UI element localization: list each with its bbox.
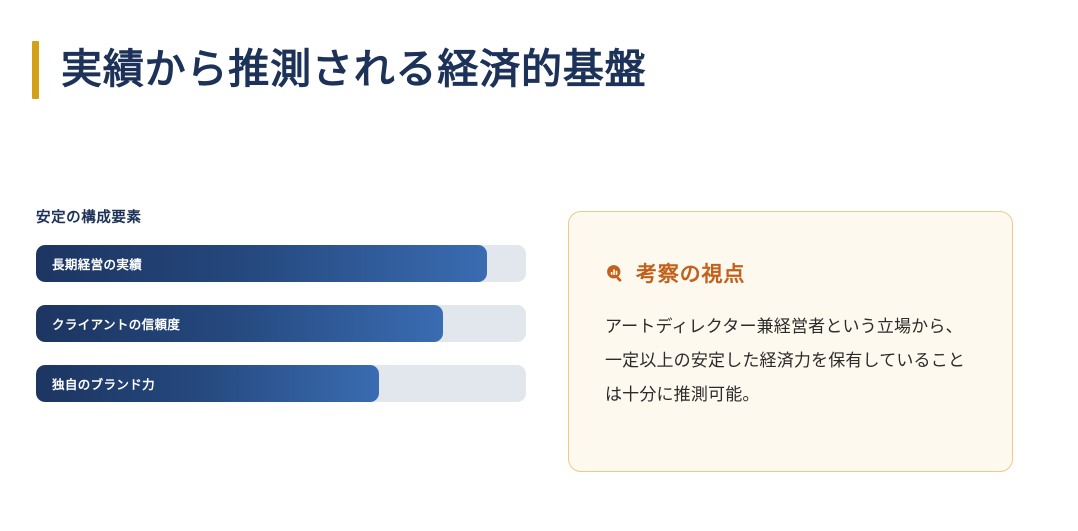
- title-accent-bar: [32, 41, 39, 99]
- bar-track: [36, 365, 526, 402]
- bar-row: 長期経営の実績: [36, 245, 526, 282]
- bar-fill: [36, 245, 487, 282]
- insight-card-body: アートディレクター兼経営者という立場から、一定以上の安定した経済力を保有している…: [605, 310, 976, 412]
- bar-track: [36, 305, 526, 342]
- page-header: 実績から推測される経済的基盤: [32, 20, 646, 121]
- bar-fill: [36, 305, 443, 342]
- insight-card-title: 考察の視点: [636, 258, 745, 288]
- insight-card-header: 考察の視点: [605, 258, 976, 288]
- page-root: 実績から推測される経済的基盤 安定の構成要素 長期経営の実績 クライアントの信頼…: [0, 0, 1078, 531]
- insight-card: 考察の視点 アートディレクター兼経営者という立場から、一定以上の安定した経済力を…: [568, 211, 1013, 472]
- page-title: 実績から推測される経済的基盤: [61, 47, 646, 93]
- bars-caption: 安定の構成要素: [36, 206, 526, 227]
- bar-row: 独自のブランド力: [36, 365, 526, 402]
- chart-magnifier-icon: [605, 263, 626, 284]
- bar-track: [36, 245, 526, 282]
- stability-factors-panel: 安定の構成要素 長期経営の実績 クライアントの信頼度 独自のブランド力: [36, 206, 526, 402]
- bar-row: クライアントの信頼度: [36, 305, 526, 342]
- bar-fill: [36, 365, 379, 402]
